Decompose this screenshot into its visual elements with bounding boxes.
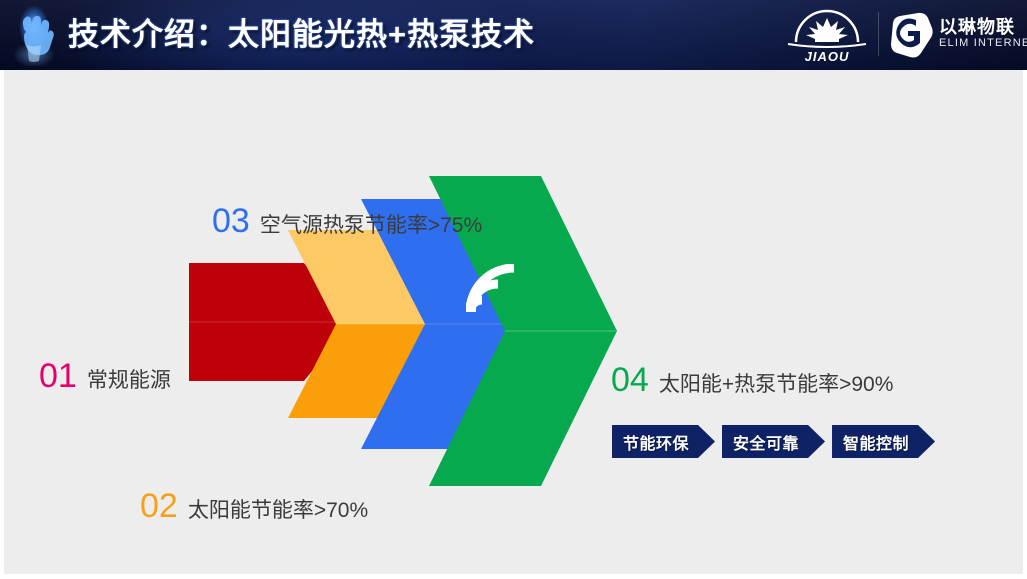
- slide-header: 技术介绍：太阳能光热+热泵技术 JIAOU 以琳物联 ELIM INTERNET: [0, 0, 1027, 70]
- feature-badge-safe-reliable[interactable]: 安全可靠: [722, 425, 825, 458]
- logo-divider: [878, 12, 879, 56]
- logo-elim-name-en: ELIM INTERNET: [939, 37, 1027, 49]
- feature-badge-energy-saving[interactable]: 节能环保: [612, 425, 715, 458]
- sunrise-icon: [786, 6, 868, 50]
- step-caption-03: 03 空气源热泵节能率>75%: [212, 204, 482, 238]
- step-label-02: 太阳能节能率>70%: [188, 500, 368, 521]
- step-number-03: 03: [212, 204, 250, 238]
- step-caption-04: 04 太阳能+热泵节能率>90%: [611, 363, 893, 397]
- wifi-signal-icon: [466, 264, 522, 316]
- raised-fist-icon: [6, 2, 62, 68]
- step-label-03: 空气源热泵节能率>75%: [260, 215, 482, 236]
- step-number-01: 01: [39, 359, 77, 393]
- logo-jiaou-wordmark: JIAOU: [786, 49, 868, 64]
- page-title: 技术介绍：太阳能光热+热泵技术: [68, 9, 535, 54]
- logo-elim-name-cn: 以琳物联: [939, 13, 1015, 39]
- slide: 技术介绍：太阳能光热+热泵技术 JIAOU 以琳物联 ELIM INTERNET: [0, 0, 1027, 579]
- step-number-04: 04: [611, 363, 649, 397]
- slide-body: 01 常规能源 02 太阳能节能率>70% 03 空气源热泵节能率>75% 04…: [0, 70, 1027, 579]
- feature-badge-smart-control[interactable]: 智能控制: [832, 425, 935, 458]
- feature-badge-group: 节能环保 安全可靠 智能控制: [612, 425, 935, 458]
- step-caption-01: 01 常规能源: [39, 359, 171, 393]
- logo-elim: 以琳物联 ELIM INTERNET: [887, 12, 1019, 58]
- g-letter-icon: [887, 12, 933, 58]
- step-number-02: 02: [140, 489, 178, 523]
- logo-jiaou: JIAOU: [786, 6, 868, 64]
- step-label-01: 常规能源: [87, 370, 171, 391]
- step-caption-02: 02 太阳能节能率>70%: [140, 489, 368, 523]
- step-label-04: 太阳能+热泵节能率>90%: [659, 374, 894, 395]
